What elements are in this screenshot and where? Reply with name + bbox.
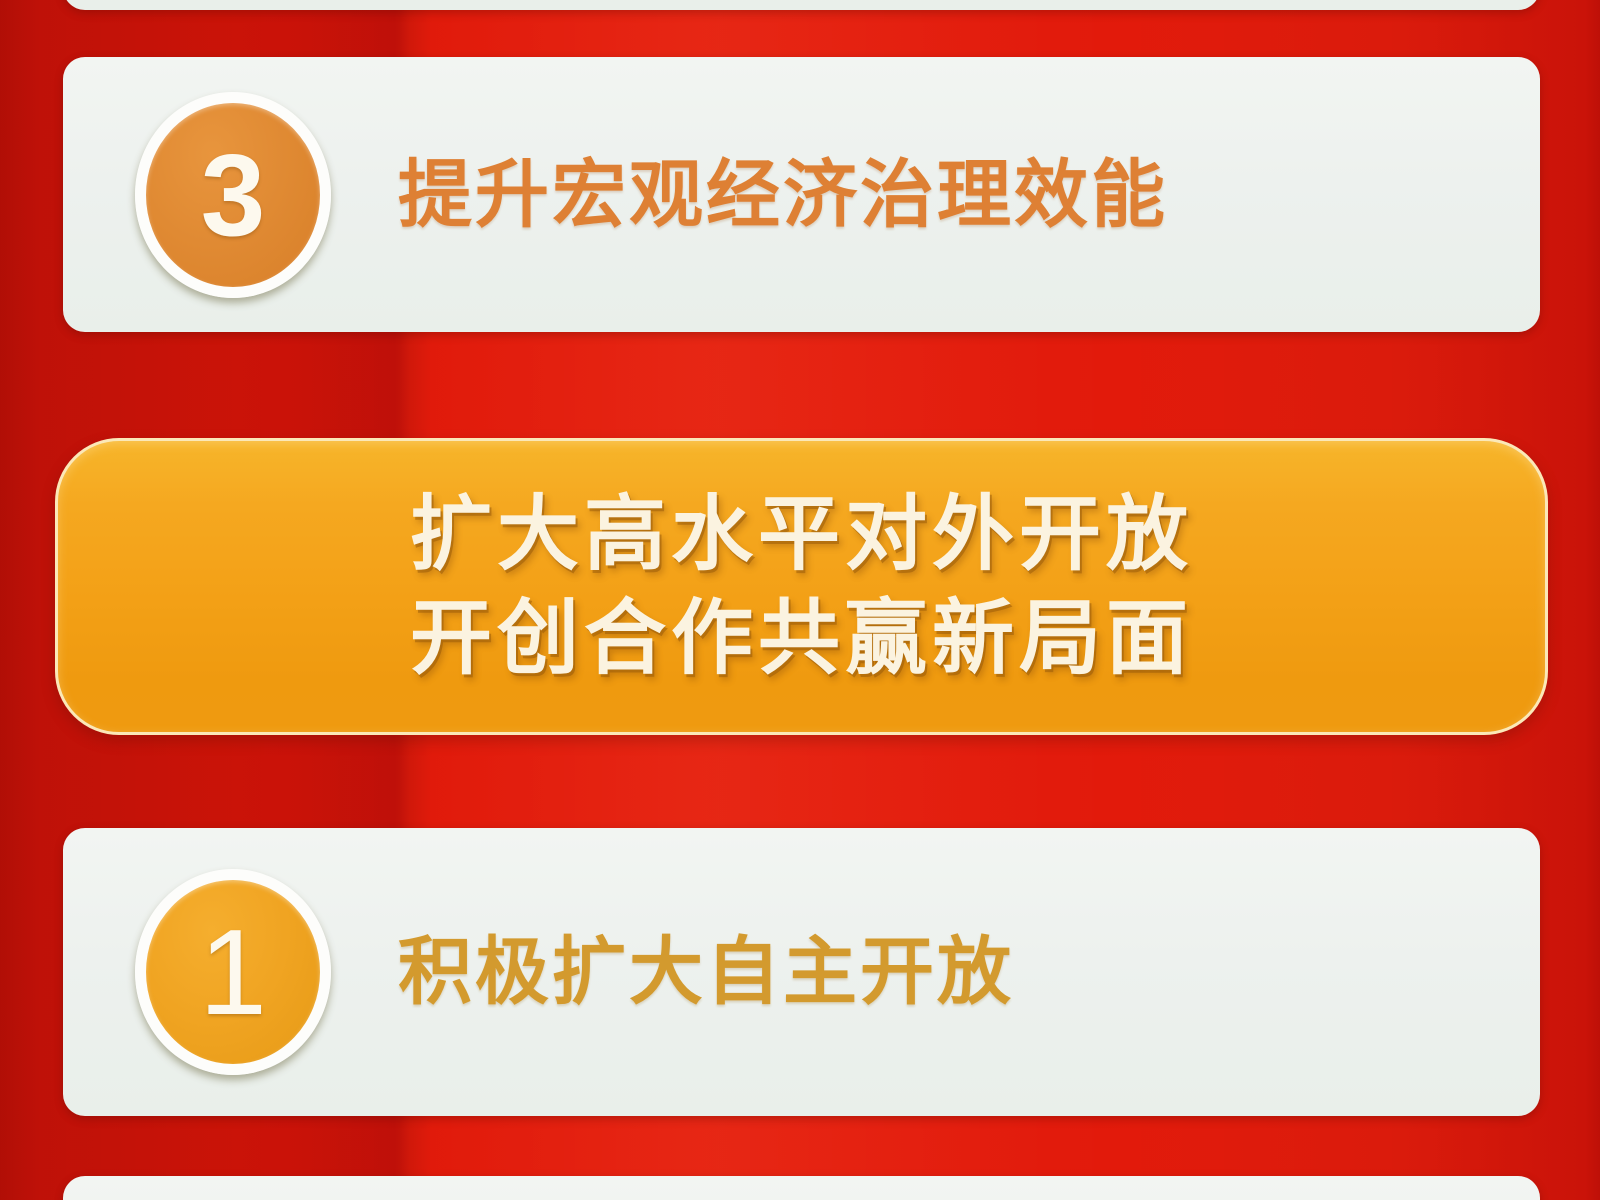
badge-number-label: 1 [199, 911, 267, 1033]
badge-number-label: 3 [201, 137, 266, 253]
card-title-item-1: 积极扩大自主开放 [398, 932, 1014, 1012]
banner-line-1: 扩大高水平对外开放 [410, 483, 1193, 586]
card-item-1[interactable]: 1 积极扩大自主开放 [63, 828, 1540, 1116]
feature-banner[interactable]: 扩大高水平对外开放 开创合作共赢新局面 [55, 438, 1548, 735]
card-title-item-3: 提升宏观经济治理效能 [398, 155, 1168, 235]
card-partial-above [63, 0, 1540, 10]
banner-line-2: 开创合作共赢新局面 [410, 587, 1193, 690]
poster-canvas: 3 提升宏观经济治理效能 扩大高水平对外开放 开创合作共赢新局面 1 积极扩大自… [0, 0, 1600, 1200]
number-badge-1: 1 [135, 869, 331, 1075]
card-item-3[interactable]: 3 提升宏观经济治理效能 [63, 57, 1540, 332]
card-partial-below [63, 1176, 1540, 1200]
number-badge-3: 3 [135, 92, 331, 298]
